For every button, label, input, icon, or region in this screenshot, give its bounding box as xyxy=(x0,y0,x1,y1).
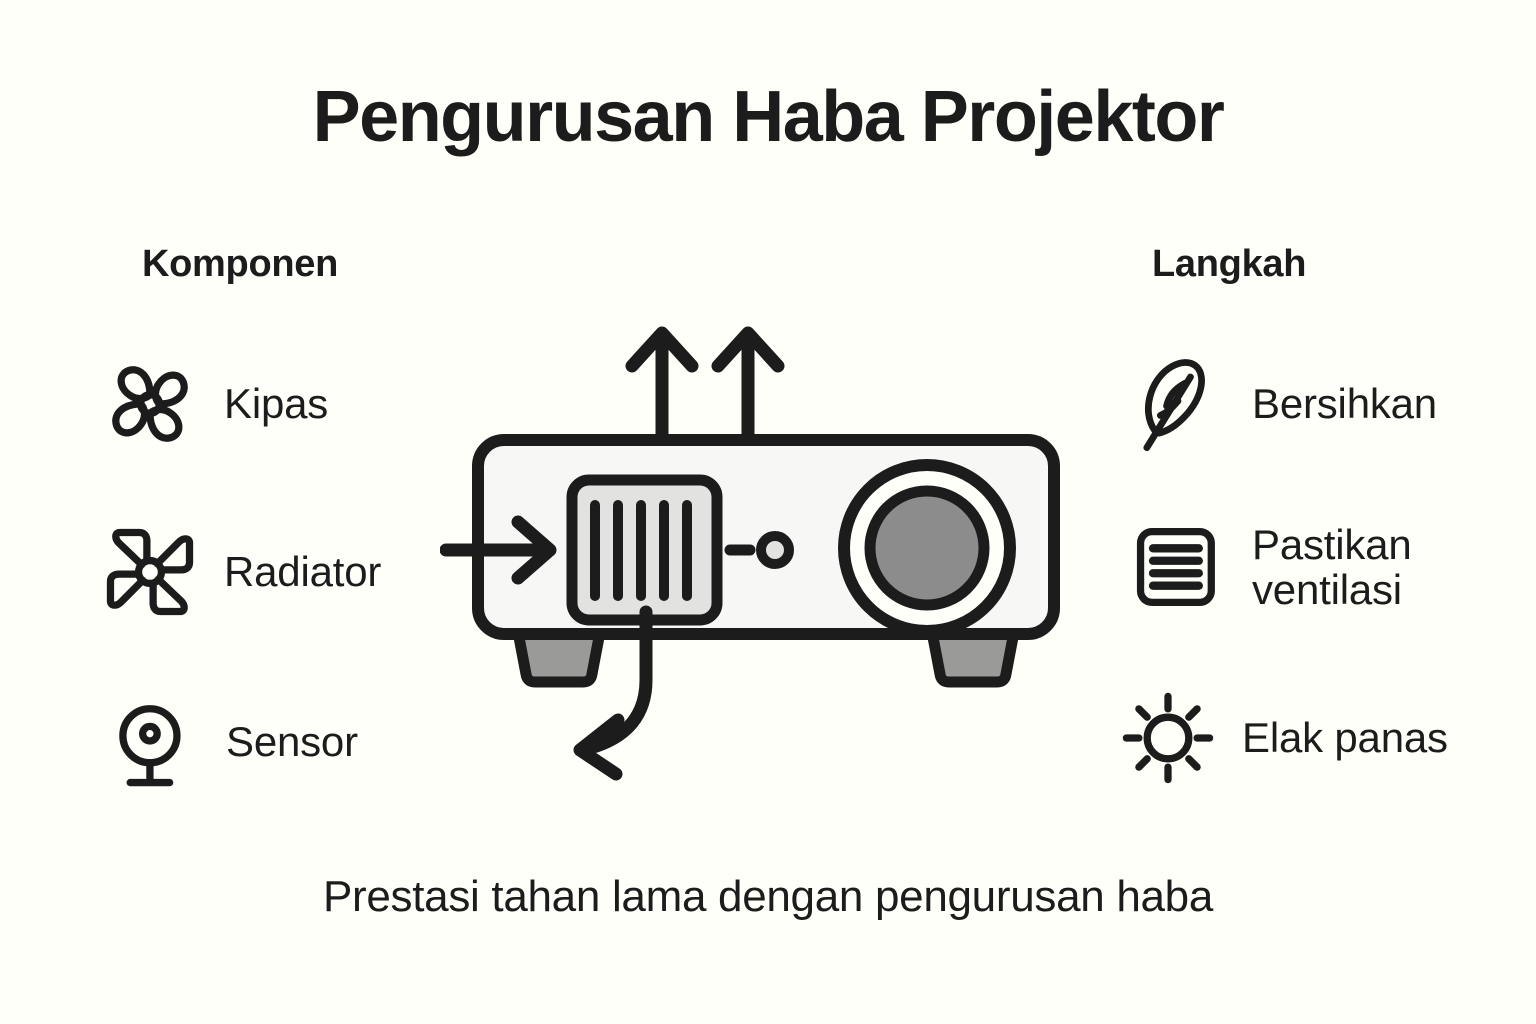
list-item-label: Elak panas xyxy=(1242,715,1448,760)
list-item-pastikan-ventilasi: Pastikan ventilasi xyxy=(1126,515,1412,619)
infographic-page: Pengurusan Haba Projektor Komponen Kipas xyxy=(0,0,1536,1024)
list-item-sensor: Sensor xyxy=(100,690,358,794)
lens xyxy=(844,465,1010,631)
exhaust-arrow-right xyxy=(718,333,778,445)
feather-icon xyxy=(1126,352,1230,456)
list-item-radiator: Radiator xyxy=(98,520,381,624)
list-item-label: Radiator xyxy=(224,549,381,594)
exhaust-arrow-left xyxy=(632,333,692,445)
list-item-kipas: Kipas xyxy=(98,352,328,456)
fan-icon xyxy=(98,352,202,456)
impeller-icon xyxy=(98,520,202,624)
sun-icon xyxy=(1116,686,1220,790)
column-heading-langkah: Langkah xyxy=(1152,243,1306,286)
list-item-bersihkan: Bersihkan xyxy=(1126,352,1437,456)
caption-text: Prestasi tahan lama dengan pengurusan ha… xyxy=(0,872,1536,922)
list-item-label: Pastikan ventilasi xyxy=(1252,522,1412,613)
list-item-label: Bersihkan xyxy=(1252,381,1437,426)
list-item-label: Kipas xyxy=(224,381,328,426)
projector-diagram xyxy=(440,300,1100,800)
page-title: Pengurusan Haba Projektor xyxy=(0,76,1536,158)
list-item-label: Sensor xyxy=(226,719,358,764)
sensor-icon xyxy=(100,690,204,794)
column-heading-komponen: Komponen xyxy=(142,243,338,286)
list-item-elak-panas: Elak panas xyxy=(1116,686,1448,790)
vent-grille-panel xyxy=(572,480,717,620)
vent-grille-icon xyxy=(1126,515,1230,619)
